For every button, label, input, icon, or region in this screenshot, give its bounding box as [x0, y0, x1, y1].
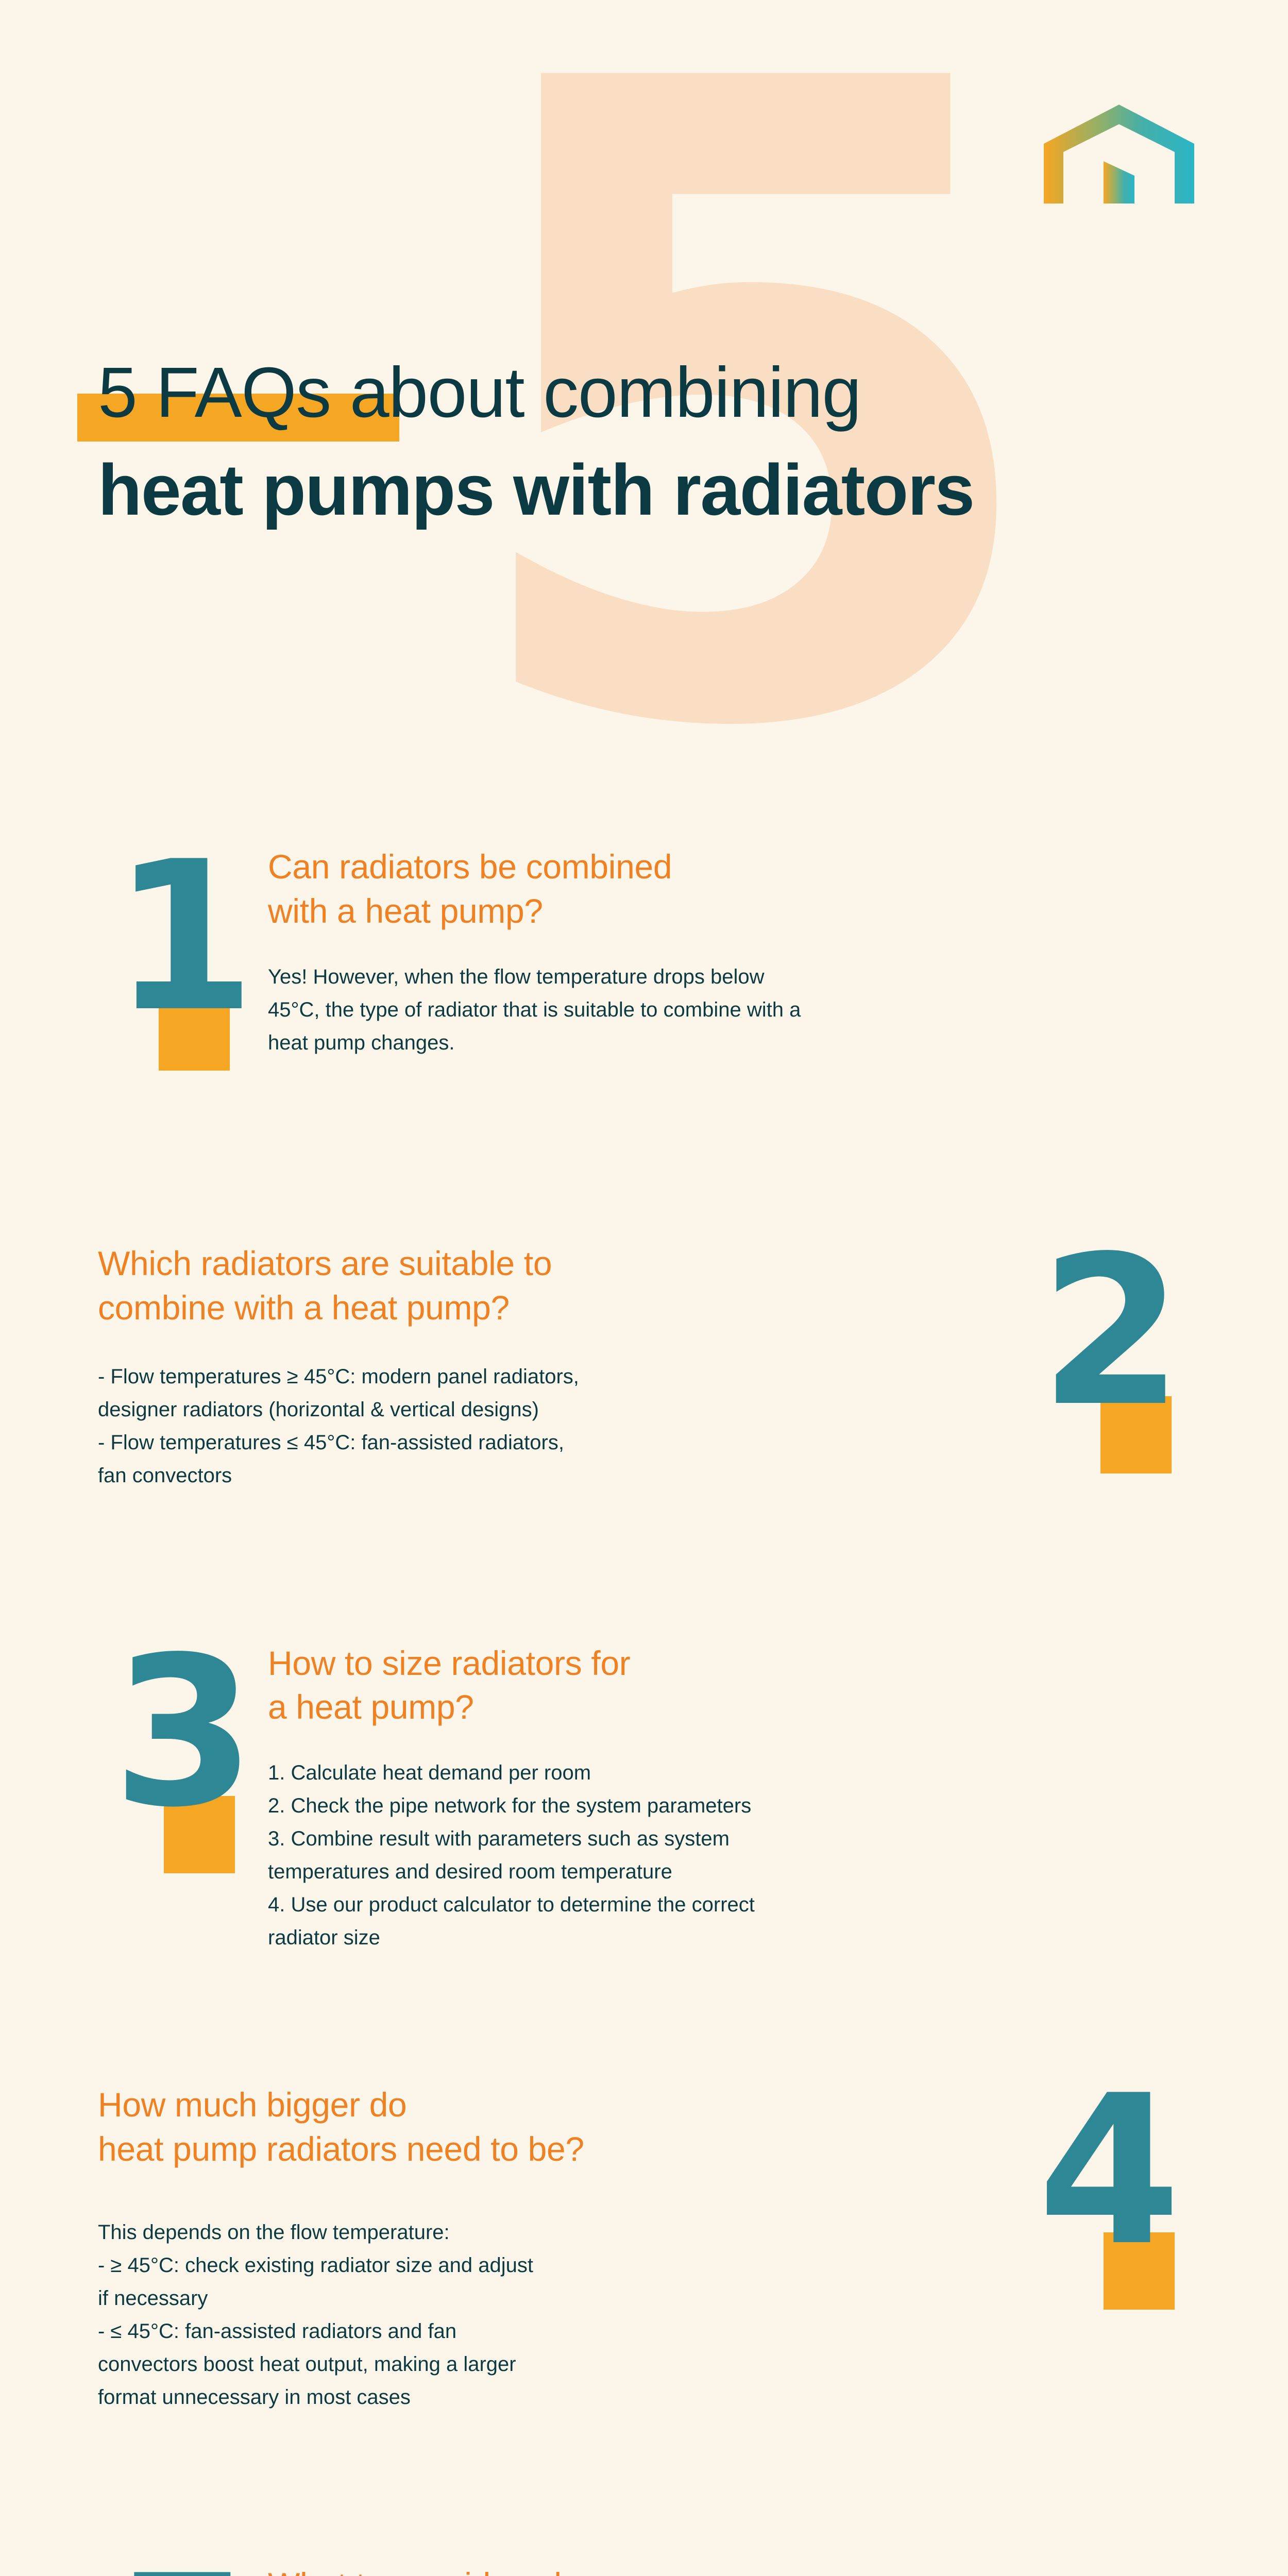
faq-content-4: How much bigger do heat pump radiators n…	[98, 2083, 1020, 2414]
faq-number-2-wrap: 2	[1020, 1242, 1190, 1484]
faq-body-4: This depends on the flow temperature: - …	[98, 2216, 989, 2414]
faq-section-1: 1 Can radiators be combined with a heat …	[0, 845, 1288, 1072]
faq-question-4: How much bigger do heat pump radiators n…	[98, 2083, 989, 2172]
faq-question-1: Can radiators be combined with a heat pu…	[268, 845, 1190, 934]
faq-question-5: What to consider when renovating with a …	[268, 2563, 1190, 2576]
faq-content-3: How to size radiators for a heat pump? 1…	[268, 1641, 1190, 1955]
header: 5 5 FAQs about combining	[0, 0, 1288, 783]
faq-section-4: 4 How much bigger do heat pump radiators…	[0, 2083, 1288, 2414]
faq-content-2: Which radiators are suitable to combine …	[98, 1242, 1020, 1492]
faq-body-1: Yes! However, when the flow temperature …	[268, 960, 1190, 1059]
faq-number-5-wrap: 5	[98, 2563, 268, 2576]
title-highlight-text: 5 FAQs	[98, 353, 331, 432]
faq-number-4-wrap: 4	[1020, 2083, 1190, 2325]
faq-body-3: 1. Calculate heat demand per room 2. Che…	[268, 1756, 1190, 1954]
faq-number-5: 5	[112, 2549, 251, 2576]
faq-question-2: Which radiators are suitable to combine …	[98, 1242, 989, 1330]
page-title-line-1: 5 FAQs about combining	[98, 355, 1221, 430]
faq-number-3-wrap: 3	[98, 1641, 268, 1884]
faq-section-5: 5 What to consider when renovating with …	[0, 2563, 1288, 2576]
faq-number-1: 1	[112, 835, 251, 1041]
faq-section-3: 3 How to size radiators for a heat pump?…	[0, 1641, 1288, 1955]
faq-question-3: How to size radiators for a heat pump?	[268, 1641, 1190, 1730]
faq-content-5: What to consider when renovating with a …	[268, 2563, 1190, 2576]
house-logo	[1042, 100, 1196, 229]
infographic-page: 5 5 FAQs about combining	[0, 0, 1288, 2576]
faq-section-2: 2 Which radiators are suitable to combin…	[0, 1242, 1288, 1492]
faq-number-1-wrap: 1	[98, 845, 268, 1072]
page-title-line-2: heat pumps with radiators	[98, 452, 1221, 528]
faq-body-2: - Flow temperatures ≥ 45°C: modern panel…	[98, 1360, 989, 1492]
faq-number-4: 4	[1038, 2069, 1177, 2275]
faq-number-3: 3	[112, 1630, 251, 1836]
faq-number-2: 2	[1040, 1229, 1179, 1435]
title-rest-text: about combining	[331, 353, 861, 432]
faq-content-1: Can radiators be combined with a heat pu…	[268, 845, 1190, 1059]
title-block: 5 FAQs about combining heat pumps with r…	[98, 355, 1221, 528]
